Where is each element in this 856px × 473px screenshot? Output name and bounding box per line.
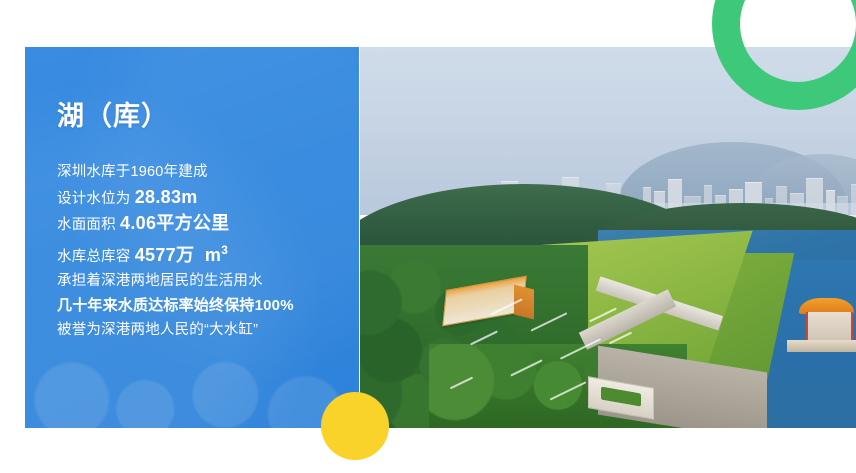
info-panel: 湖（库） 深圳水库于1960年建成设计水位为 28.83m水面面积 4.06平方… xyxy=(25,47,359,428)
pavilion-body xyxy=(806,312,852,342)
infographic-stage: 湖（库） 深圳水库于1960年建成设计水位为 28.83m水面面积 4.06平方… xyxy=(0,0,856,473)
yellow-circle-icon xyxy=(321,392,389,460)
fact-surface-area: 水面面积 4.06平方公里 xyxy=(57,211,359,238)
pavilion-deck xyxy=(787,340,856,351)
fact-supply-purpose: 承担着深港两地居民的生活用水 xyxy=(57,269,359,294)
bottom-white-band xyxy=(0,428,856,473)
reservoir-fact-list: 深圳水库于1960年建成设计水位为 28.83m水面面积 4.06平方公里水库总… xyxy=(57,160,359,343)
fact-unit: m3 xyxy=(194,245,228,265)
page-title: 湖（库） xyxy=(57,103,359,130)
fact-label: 水面面积 xyxy=(57,217,120,233)
fact-quality-rate: 几十年来水质达标率始终保持100% xyxy=(57,294,359,319)
fact-built-year: 深圳水库于1960年建成 xyxy=(57,160,359,185)
fact-value: 4.06平方公里 xyxy=(120,213,229,233)
fact-label: 水库总库容 xyxy=(57,249,135,265)
fact-value: 4577万 xyxy=(135,245,195,265)
fact-value: 28.83m xyxy=(135,187,198,207)
skyline-building xyxy=(851,184,856,219)
fact-nickname: 被誉为深港两地人民的“大水缸” xyxy=(57,318,359,343)
fact-total-capacity: 水库总库容 4577万 m3 xyxy=(57,238,359,270)
panel-content: 湖（库） 深圳水库于1960年建成设计水位为 28.83m水面面积 4.06平方… xyxy=(25,47,359,343)
fact-label: 设计水位为 xyxy=(57,191,135,207)
fact-unit-exponent: 3 xyxy=(221,243,228,257)
fact-design-level: 设计水位为 28.83m xyxy=(57,185,359,212)
